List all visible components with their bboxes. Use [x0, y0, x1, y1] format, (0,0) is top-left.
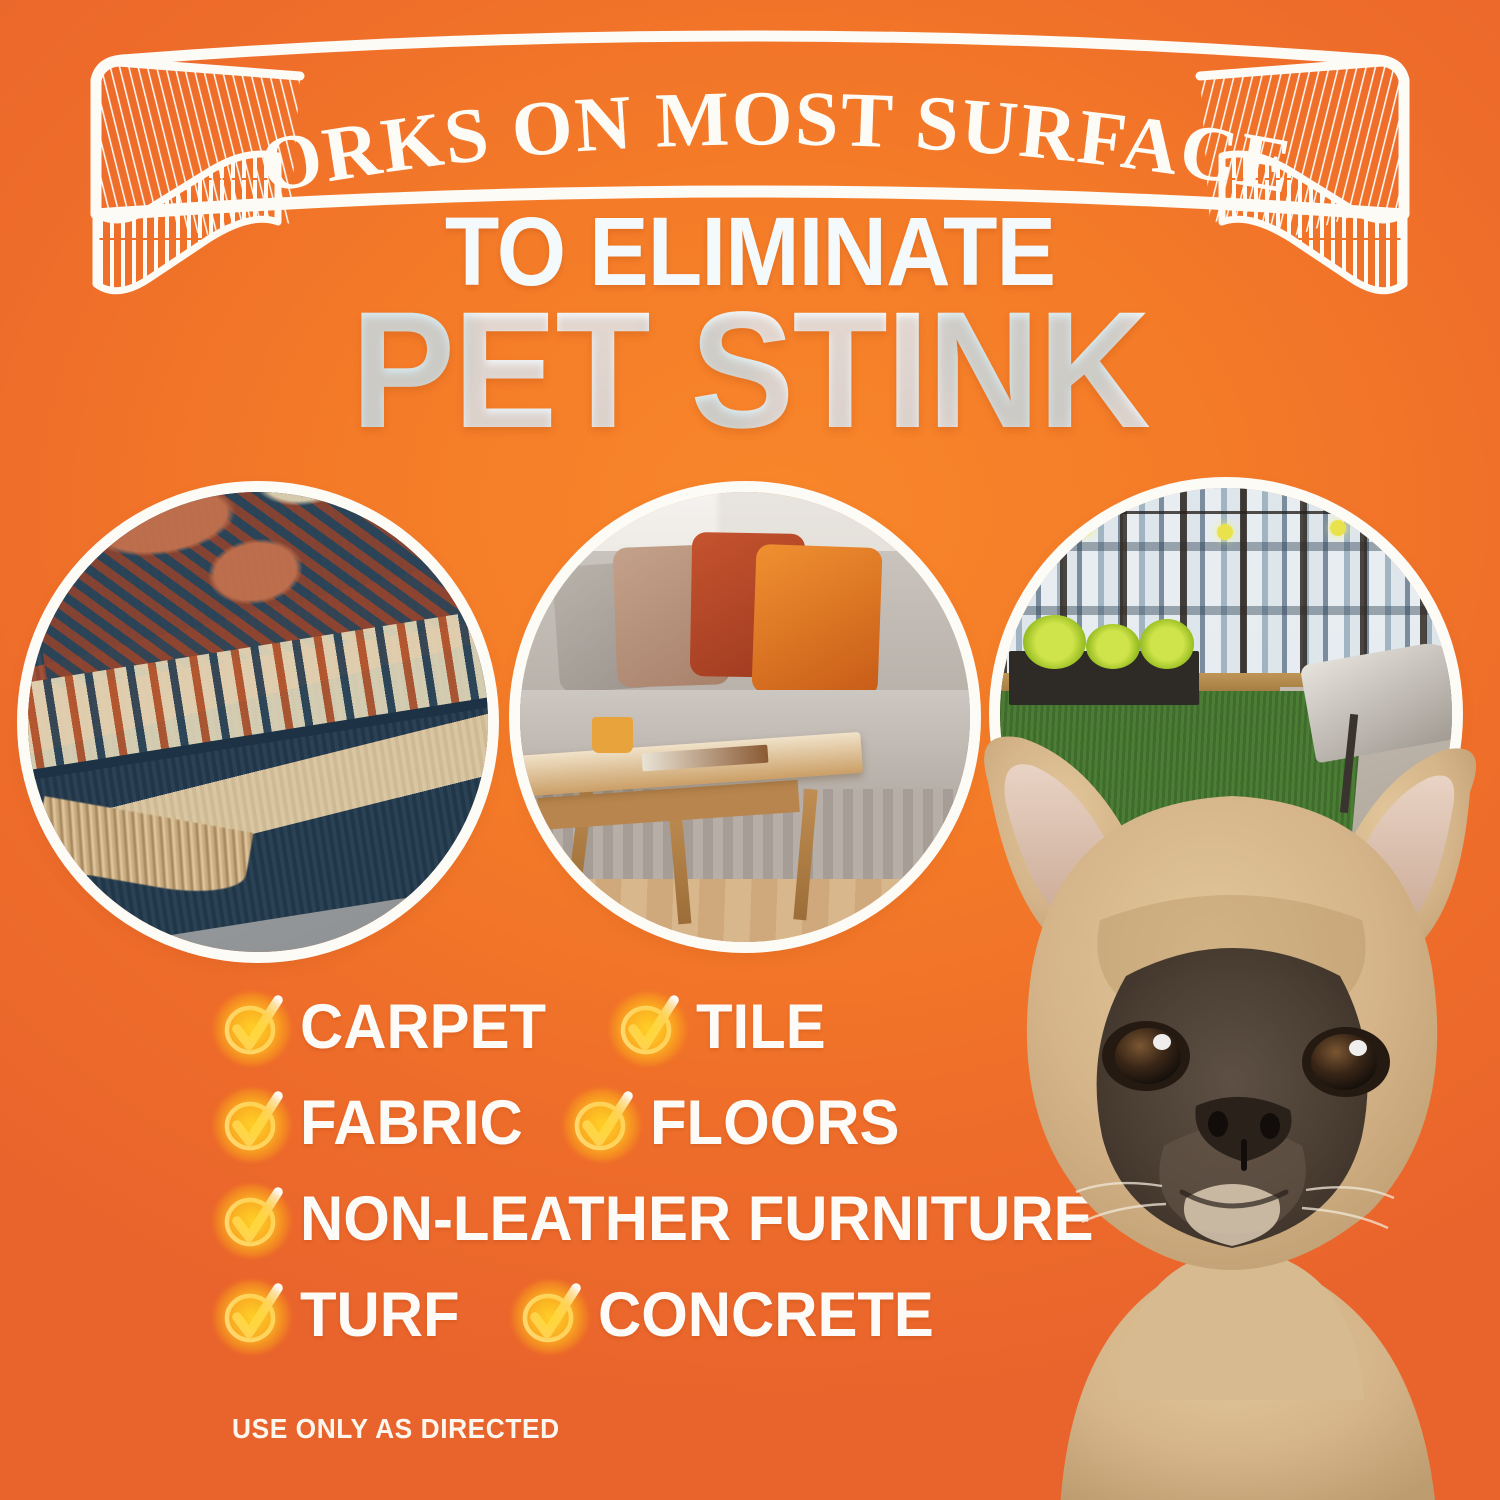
- check-circle-icon: [222, 998, 282, 1058]
- banner-ribbon: WORKS ON MOST SURFACES: [0, 0, 1500, 320]
- list-item-floors: FLOORS: [572, 1092, 913, 1155]
- list-item-label: CARPET: [300, 996, 546, 1059]
- french-bulldog-photo: [950, 700, 1500, 1500]
- check-circle-icon: [222, 1094, 282, 1154]
- list-item-tile: TILE: [618, 996, 833, 1059]
- list-item-label: TURF: [300, 1284, 460, 1347]
- check-circle-icon: [222, 1190, 282, 1250]
- dog-right-eye: [1302, 1027, 1390, 1097]
- list-item-label: FABRIC: [300, 1092, 523, 1155]
- list-item-turf: TURF: [222, 1284, 468, 1347]
- list-item-label: TILE: [696, 996, 826, 1059]
- check-circle-icon: [222, 1286, 282, 1346]
- list-item-label: CONCRETE: [598, 1284, 934, 1347]
- check-circle-icon: [572, 1094, 632, 1154]
- photo-living-room: [520, 492, 970, 942]
- poster-canvas: WORKS ON MOST SURFACES TO ELIMINATE PET …: [0, 0, 1500, 1500]
- list-item-fabric: FABRIC: [222, 1092, 535, 1155]
- dog-left-eye: [1102, 1021, 1190, 1091]
- list-item-carpet: CARPET: [222, 996, 559, 1059]
- list-item-label: FLOORS: [650, 1092, 899, 1155]
- photo-carpet-rug: [28, 492, 488, 952]
- list-item-concrete: CONCRETE: [520, 1284, 952, 1347]
- headline-line-2: PET STINK: [45, 298, 1455, 444]
- fineprint-text: USE ONLY AS DIRECTED: [232, 1413, 560, 1445]
- check-circle-icon: [618, 998, 678, 1058]
- check-circle-icon: [520, 1286, 580, 1346]
